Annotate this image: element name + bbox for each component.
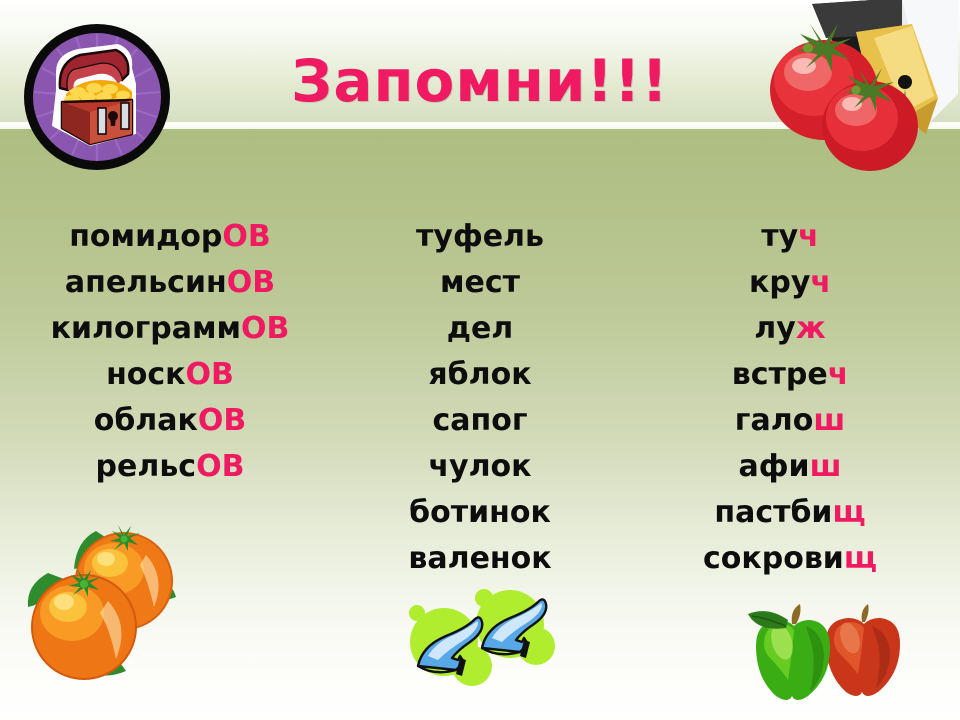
word-item: валенок [408,536,551,582]
word-item: луж [754,306,825,352]
word-item: круч [749,260,831,306]
word-item: ботинок [409,490,551,536]
word-item: дел [447,306,514,352]
word-item: рельсОВ [96,444,245,490]
word-item: мест [440,260,520,306]
word-item: помидорОВ [69,214,271,260]
treasure-chest-badge [22,22,172,172]
slide-canvas: Запомни!!! [0,0,960,720]
word-item: апельсинОВ [65,260,275,306]
word-item: чулок [428,444,531,490]
word-item: встреч [732,352,849,398]
word-item: килограммОВ [51,306,290,352]
word-item: туфель [416,214,544,260]
column-genitive-plural-hissing: туч круч луж встреч галош афиш пастбищ с… [620,214,960,582]
column-genitive-plural-ov: помидорОВ апельсинОВ килограммОВ носкОВ … [0,214,340,490]
oranges-decoration [14,525,204,705]
word-item: афиш [739,444,842,490]
word-item: пастбищ [714,490,865,536]
column-genitive-plural-zero: туфель мест дел яблок сапог чулок ботино… [340,214,620,582]
apples-decoration [722,598,902,708]
red-apple-icon [826,604,900,696]
word-item: носкОВ [106,352,234,398]
word-item: облакОВ [94,398,247,444]
word-item: туч [761,214,819,260]
word-item: яблок [428,352,531,398]
word-item: галош [735,398,845,444]
shoes-decoration [398,584,578,696]
pen-nib-and-tomatoes-decoration [752,0,960,190]
green-apple-icon [748,604,830,700]
word-item: сапог [432,398,527,444]
word-item: сокровищ [703,536,877,582]
